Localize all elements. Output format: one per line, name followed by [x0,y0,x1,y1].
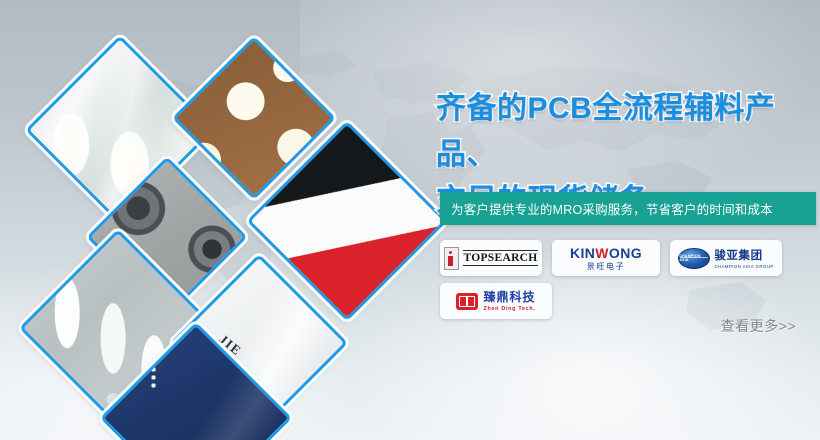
logo-topsearch[interactable]: TOPSEARCH [440,240,542,276]
banner-subtitle-text: 为客户提供专业的MRO采购服务，节省客户的时间和成本 [440,199,773,218]
logo-kinwong-cn: 景旺电子 [570,263,642,271]
logo-champion-asia-en: CHAMPION ASIA GROUP [714,265,773,269]
topsearch-mark-icon [444,247,459,270]
champion-asia-badge-text: CHAMPION ASIA [679,249,709,268]
logo-zhen-ding-cn: 臻鼎科技 [483,290,535,304]
logo-kinwong-en: KINWONG [570,246,642,260]
banner-subtitle-bar: 为客户提供专业的MRO采购服务，节省客户的时间和成本 [440,192,816,225]
client-logo-row-2: 臻鼎科技 Zhen Ding Tech. [440,283,820,319]
client-logo-row-1: TOPSEARCH KINWONG 景旺电子 CHAMPION ASIA 骏亚集… [440,240,820,276]
logo-zhen-ding[interactable]: 臻鼎科技 Zhen Ding Tech. [440,283,552,319]
view-more-link[interactable]: 查看更多>> [721,316,796,336]
promo-banner: JIE 齐备的PCB全流程辅料产品、 充足的现货储备 为客户提供专业的MRO采购… [0,0,820,440]
logo-kinwong-en-right: ONG [609,245,642,261]
logo-topsearch-label: TOPSEARCH [463,250,537,266]
client-logo-group: TOPSEARCH KINWONG 景旺电子 CHAMPION ASIA 骏亚集… [440,240,820,326]
logo-kinwong[interactable]: KINWONG 景旺电子 [552,240,660,276]
logo-kinwong-en-left: KIN [570,245,595,261]
zhen-ding-mark-icon [456,293,478,310]
logo-champion-asia[interactable]: CHAMPION ASIA 骏亚集团 CHAMPION ASIA GROUP [670,240,782,276]
champion-asia-globe-icon: CHAMPION ASIA [678,248,710,269]
logo-kinwong-en-mid: W [595,245,609,261]
banner-content: 齐备的PCB全流程辅料产品、 充足的现货储备 为客户提供专业的MRO采购服务，节… [432,0,820,440]
logo-champion-asia-cn: 骏亚集团 [714,250,762,262]
logo-zhen-ding-en: Zhen Ding Tech. [483,307,535,312]
product-tile-mosaic: JIE [0,0,440,440]
